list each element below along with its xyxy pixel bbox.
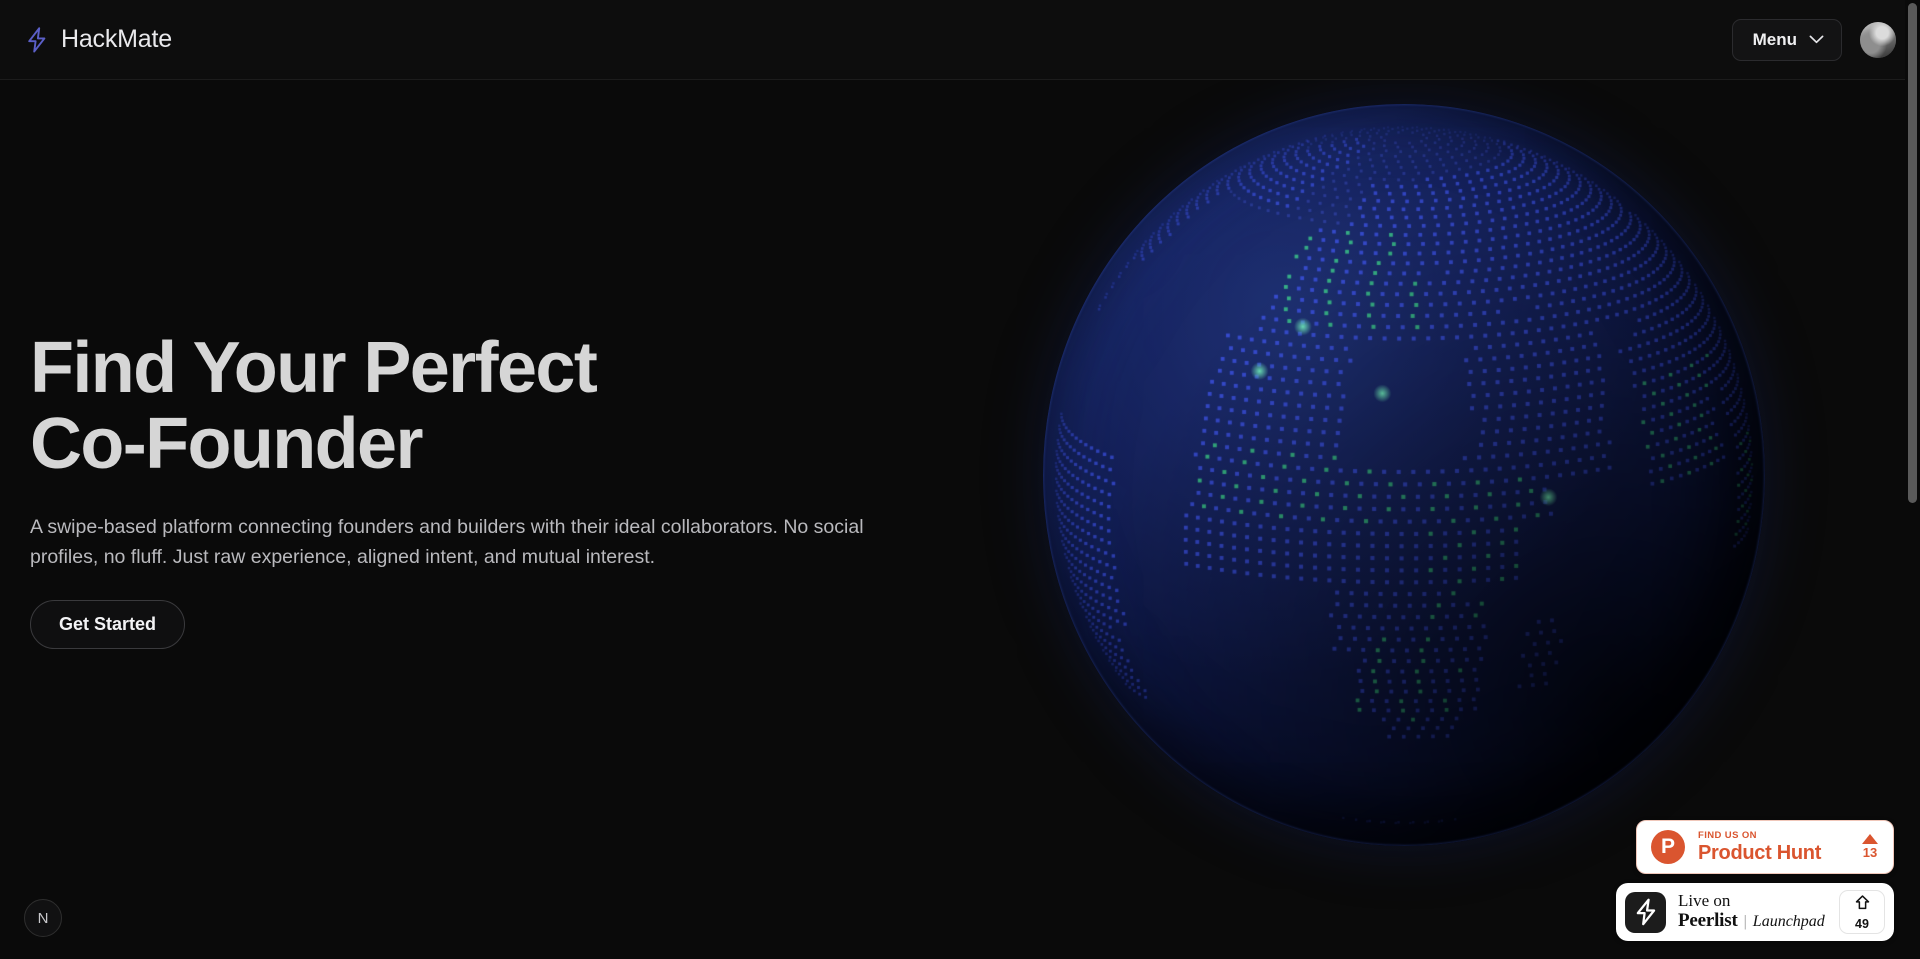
launch-badges: P FIND US ON Product Hunt 13 Live on Pee… [1616, 820, 1894, 941]
brand-logo-link[interactable]: HackMate [24, 25, 172, 55]
arrow-up-icon [1854, 894, 1871, 916]
get-started-button[interactable]: Get Started [30, 600, 185, 649]
chevron-down-icon [1809, 35, 1824, 44]
product-hunt-upvote[interactable]: 13 [1858, 834, 1878, 860]
globe-dot-layer [1043, 104, 1765, 846]
peerlist-product: Launchpad [1753, 914, 1825, 931]
product-hunt-title: Product Hunt [1698, 843, 1845, 863]
peerlist-logo-icon [1625, 892, 1666, 933]
product-hunt-kicker: FIND US ON [1698, 831, 1845, 841]
caret-up-icon [1862, 834, 1878, 844]
peerlist-brand: Peerlist [1678, 911, 1738, 931]
page-title: Find Your Perfect Co-Founder [30, 330, 960, 482]
globe-sphere [1043, 104, 1765, 846]
hackmate-landing-page: HackMate Menu Find Your P [0, 0, 1920, 959]
menu-button[interactable]: Menu [1732, 19, 1842, 61]
header-actions: Menu [1732, 19, 1896, 61]
brand-name: HackMate [61, 25, 172, 54]
menu-button-label: Menu [1753, 30, 1797, 50]
product-hunt-text: FIND US ON Product Hunt [1698, 831, 1845, 863]
peerlist-upvote-count: 49 [1855, 917, 1869, 931]
hero-subtitle: A swipe-based platform connecting founde… [30, 512, 920, 572]
avatar-image [1860, 22, 1896, 58]
avatar[interactable] [1860, 22, 1896, 58]
peerlist-separator: | [1744, 914, 1747, 931]
product-hunt-badge[interactable]: P FIND US ON Product Hunt 13 [1636, 820, 1894, 874]
peerlist-badge[interactable]: Live on Peerlist | Launchpad 49 [1616, 883, 1894, 941]
scrollbar-thumb[interactable] [1908, 3, 1917, 503]
nextjs-dev-indicator[interactable]: N [24, 899, 62, 937]
hero-section: Find Your Perfect Co-Founder A swipe-bas… [30, 330, 960, 649]
peerlist-upvote[interactable]: 49 [1839, 890, 1885, 934]
peerlist-line-one: Live on [1678, 892, 1827, 910]
product-hunt-logo-icon: P [1651, 830, 1685, 864]
peerlist-line-two: Peerlist | Launchpad [1678, 911, 1827, 931]
product-hunt-upvote-count: 13 [1863, 845, 1877, 860]
peerlist-text: Live on Peerlist | Launchpad [1678, 892, 1827, 931]
page-scrollbar[interactable] [1905, 0, 1920, 959]
site-header: HackMate Menu [0, 0, 1920, 80]
lightning-bolt-icon [24, 25, 50, 55]
dotted-globe-graphic [1043, 104, 1765, 846]
